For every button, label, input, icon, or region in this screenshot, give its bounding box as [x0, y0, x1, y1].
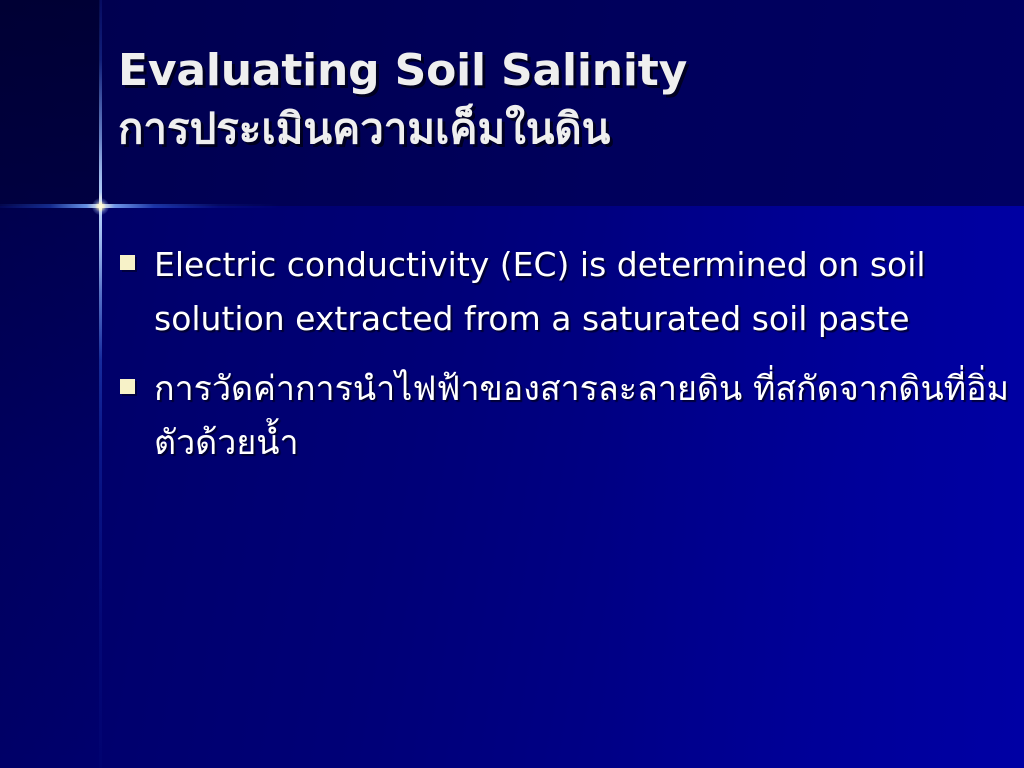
- list-item-label: การวัดค่าการนำไฟฟ้าของสารละลายดิน ที่สกั…: [154, 362, 1010, 470]
- list-item: การวัดค่าการนำไฟฟ้าของสารละลายดิน ที่สกั…: [120, 362, 1010, 470]
- star-sparkle-icon: [92, 198, 109, 215]
- slide-body-content: Electric conductivity (EC) is determined…: [120, 238, 1010, 486]
- sparkle-horizontal-ray-icon: [0, 204, 280, 208]
- page-title: Evaluating Soil Salinity: [118, 44, 998, 98]
- list-item: Electric conductivity (EC) is determined…: [120, 238, 1010, 346]
- presentation-slide: Evaluating Soil Salinity การประเมินความเ…: [0, 0, 1024, 768]
- background-left-strip: [0, 0, 100, 768]
- square-bullet-icon: [120, 255, 135, 270]
- slide-title-block: Evaluating Soil Salinity การประเมินความเ…: [118, 44, 998, 160]
- page-subtitle: การประเมินความเค็มในดิน: [118, 98, 998, 160]
- list-item-label: Electric conductivity (EC) is determined…: [154, 238, 1010, 346]
- square-bullet-icon: [120, 379, 135, 394]
